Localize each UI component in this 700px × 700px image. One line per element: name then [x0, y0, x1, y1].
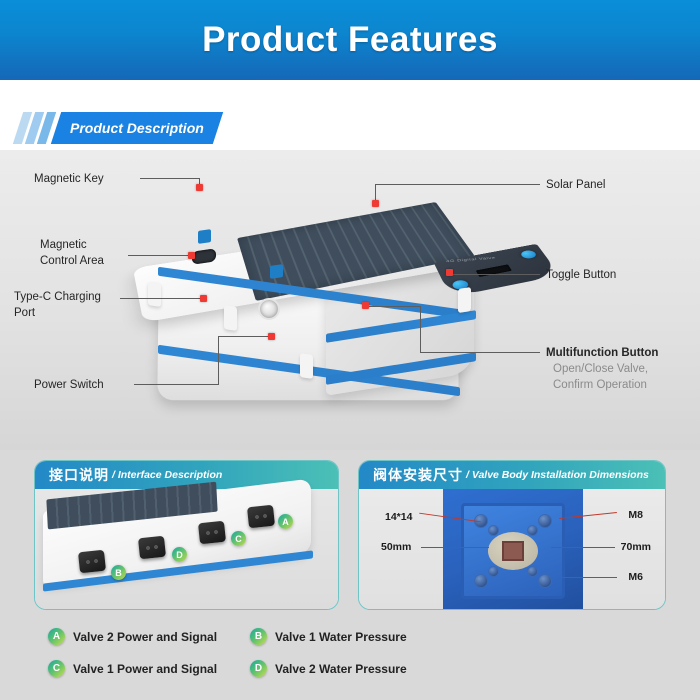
callout-type-c-port: Type-C Charging Port — [14, 290, 101, 321]
interface-panel-title-cn: 接口说明 — [49, 465, 109, 485]
marker-b: B — [111, 565, 126, 580]
toggle-button-knob[interactable] — [519, 249, 538, 259]
marker-c: C — [231, 531, 246, 546]
lead-multifunction-h — [366, 306, 421, 307]
dot-power-switch — [268, 333, 275, 340]
bolt-hole-tr2 — [527, 525, 538, 536]
callout-magnetic-control-area: Magnetic Control Area — [40, 238, 104, 269]
lcd-display — [476, 264, 512, 277]
callout-power-switch: Power Switch — [34, 378, 104, 394]
dot-toggle-button — [446, 269, 453, 276]
valve-panel-header: 阀体安装尺寸 / Valve Body Installation Dimensi… — [359, 461, 665, 489]
valve-dimensions-panel: 阀体安装尺寸 / Valve Body Installation Dimensi… — [358, 460, 666, 610]
interface-photo: B D C A — [35, 489, 338, 610]
dim-label-70mm: 70mm — [621, 541, 651, 553]
lead-power-switch-h — [218, 336, 270, 337]
dim-line-m6 — [561, 577, 617, 578]
product-stage: 4G Digital Valve Magnetic Key Magnetic C… — [0, 150, 700, 450]
dot-magnetic-control — [188, 252, 195, 259]
interface-description-panel: 接口说明 / Interface Description B D C A — [34, 460, 339, 610]
power-switch-knob[interactable] — [258, 298, 280, 320]
lead-magnetic-control — [128, 255, 190, 256]
page-title: Product Features — [202, 20, 498, 60]
dim-label-m8: M8 — [628, 509, 643, 521]
product-description-badge: Product Description — [18, 112, 218, 144]
lead-multifunction — [420, 352, 540, 353]
legend-badge-c: C — [48, 660, 65, 677]
valve-photo: 14*14 50mm M8 70mm M6 — [359, 489, 665, 610]
valve-inner-frame — [461, 503, 565, 599]
product-illustration: 4G Digital Valve — [140, 190, 500, 415]
legend-item-d: D Valve 2 Water Pressure — [250, 660, 407, 677]
legend-badge-d: D — [250, 660, 267, 677]
lead-solar-panel — [375, 184, 540, 185]
legend-badge-b: B — [250, 628, 267, 645]
legend-item-c: C Valve 1 Power and Signal — [48, 660, 217, 677]
connector-b — [78, 550, 106, 574]
interface-panel-title-en: / Interface Description — [112, 469, 222, 481]
bolt-hole-bl2 — [488, 566, 499, 577]
device-foot-4 — [458, 287, 471, 313]
page-header: Product Features — [0, 0, 700, 80]
bolt-hole-br — [538, 574, 552, 588]
badge-plate: Product Description — [51, 112, 223, 144]
valve-mounting-plate — [443, 489, 583, 610]
dim-label-14x14: 14*14 — [385, 511, 412, 523]
callout-solar-panel: Solar Panel — [546, 178, 605, 194]
legend-text-a: Valve 2 Power and Signal — [73, 630, 217, 644]
dim-line-70mm — [551, 547, 615, 548]
legend-item-a: A Valve 2 Power and Signal — [48, 628, 217, 645]
legend: A Valve 2 Power and Signal B Valve 1 Wat… — [0, 618, 700, 698]
magnetic-control-area-icon-2 — [270, 264, 283, 279]
legend-text-c: Valve 1 Power and Signal — [73, 662, 217, 676]
dot-solar-panel — [372, 200, 379, 207]
device-foot-2 — [224, 305, 237, 331]
lead-type-c — [120, 298, 202, 299]
callout-multifunction-sub: Open/Close Valve, Confirm Operation — [553, 362, 648, 393]
valve-panel-title-en: / Valve Body Installation Dimensions — [466, 469, 649, 481]
bolt-hole-tr — [538, 514, 552, 528]
valve-panel-title-cn: 阀体安装尺寸 — [373, 465, 463, 485]
dim-line-50mm — [421, 547, 489, 548]
callout-multifunction-button: Multifunction Button — [546, 346, 658, 362]
marker-d: D — [172, 547, 187, 562]
lead-multifunction-v — [420, 306, 421, 353]
bolt-hole-bl — [474, 574, 488, 588]
lead-magnetic-key — [140, 178, 200, 179]
interface-solar-panel — [46, 482, 217, 530]
connector-a — [247, 505, 275, 529]
lead-toggle-button — [452, 274, 540, 275]
device-foot-1 — [148, 281, 161, 307]
magnetic-control-area-icon — [198, 229, 211, 244]
valve-square-port — [502, 541, 524, 561]
legend-badge-a: A — [48, 628, 65, 645]
legend-text-d: Valve 2 Water Pressure — [275, 662, 407, 676]
dot-multifunction — [362, 302, 369, 309]
legend-text-b: Valve 1 Water Pressure — [275, 630, 407, 644]
badge-label: Product Description — [70, 120, 204, 136]
device-foot-3 — [300, 353, 313, 379]
callout-toggle-button: Toggle Button — [546, 268, 616, 284]
lead-power-switch — [134, 384, 218, 385]
dim-label-m6: M6 — [628, 571, 643, 583]
bolt-hole-tl2 — [488, 525, 499, 536]
dot-magnetic-key — [196, 184, 203, 191]
connector-c — [198, 521, 226, 545]
callout-magnetic-key: Magnetic Key — [34, 172, 104, 188]
valve-center-disc — [488, 532, 538, 570]
dim-label-50mm: 50mm — [381, 541, 411, 553]
lead-power-switch-v — [218, 336, 219, 385]
connector-d — [138, 536, 166, 560]
legend-item-b: B Valve 1 Water Pressure — [250, 628, 407, 645]
marker-a: A — [278, 514, 293, 529]
bolt-hole-br2 — [527, 566, 538, 577]
dot-type-c — [200, 295, 207, 302]
